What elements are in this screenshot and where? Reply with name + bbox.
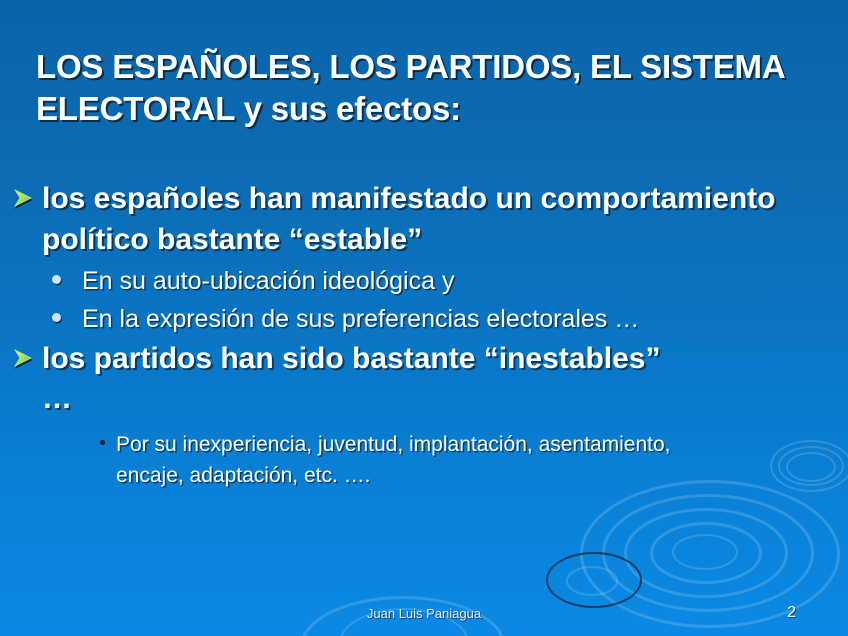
ripple-ring <box>672 534 738 570</box>
bullet-text: En la expresión de sus preferencias elec… <box>82 300 639 338</box>
ripple-ring <box>602 494 814 612</box>
slide-title: LOS ESPAÑOLES, LOS PARTIDOS, EL SISTEMA … <box>36 46 826 130</box>
arrow-bullet-marker <box>12 178 42 209</box>
slide-content: los españoles han manifestado un comport… <box>0 178 848 491</box>
arrow-bullet-marker <box>12 338 42 369</box>
dot-bullet-marker <box>52 262 82 284</box>
bullet-level2: En su auto-ubicación ideológica y <box>0 262 848 300</box>
slide-footer: Juan Luis Paniagua 2 <box>0 606 848 628</box>
ripple-ring <box>624 508 788 598</box>
presentation-slide: LOS ESPAÑOLES, LOS PARTIDOS, EL SISTEMA … <box>0 0 848 636</box>
bullet-text: En su auto-ubicación ideológica y <box>82 262 454 300</box>
ripple-ring <box>566 566 618 596</box>
bullet-level1: los partidos han sido bastante “inestabl… <box>0 338 848 379</box>
bullet-level2: En la expresión de sus preferencias elec… <box>0 300 848 338</box>
bullet-level3: Por su inexperiencia, juventud, implanta… <box>0 429 848 491</box>
bullet-text: Por su inexperiencia, juventud, implanta… <box>116 429 716 491</box>
bullet-text: los partidos han sido bastante “inestabl… <box>42 338 674 379</box>
ripple-ring-outline <box>546 552 642 608</box>
footer-author: Juan Luis Paniagua <box>0 606 848 621</box>
footer-page-number: 2 <box>787 604 796 622</box>
ripple-ring <box>650 522 762 584</box>
tiny-dot-bullet-marker <box>100 429 116 445</box>
bullet-level1: los españoles han manifestado un comport… <box>0 178 848 260</box>
bullet-continuation: … <box>0 381 848 417</box>
dot-bullet-marker <box>52 300 82 322</box>
bullet-text: los españoles han manifestado un comport… <box>42 178 848 260</box>
